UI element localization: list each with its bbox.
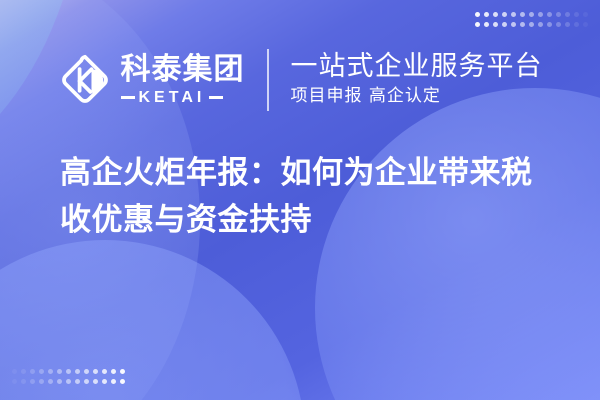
- decorative-dot: [511, 12, 516, 17]
- decorative-dot: [529, 12, 534, 17]
- dot-row: [12, 379, 125, 384]
- tagline-block: 一站式企业服务平台 项目申报 高企认定: [291, 52, 543, 109]
- dot-grid-top-right: [475, 12, 588, 27]
- decorative-dot: [39, 379, 44, 384]
- decorative-dot: [547, 12, 552, 17]
- decorative-dot: [556, 12, 561, 17]
- decorative-dot: [48, 369, 53, 374]
- decorative-dot: [484, 22, 489, 27]
- decorative-dot: [66, 379, 71, 384]
- decorative-dot: [84, 369, 89, 374]
- decorative-dot: [475, 12, 480, 17]
- decorative-dot: [502, 22, 507, 27]
- company-logo: 科泰集团 KETAI: [58, 53, 245, 107]
- decorative-dot: [120, 379, 125, 384]
- decorative-dot: [484, 12, 489, 17]
- decorative-dot: [574, 12, 579, 17]
- dot-row: [475, 22, 588, 27]
- decorative-dot: [57, 369, 62, 374]
- decorative-dot: [84, 379, 89, 384]
- decorative-dot: [21, 379, 26, 384]
- decorative-dot: [57, 379, 62, 384]
- decorative-dot: [556, 22, 561, 27]
- decorative-dot: [565, 22, 570, 27]
- promo-banner: 科泰集团 KETAI 一站式企业服务平台 项目申报 高企认定 高企火炬年报：如何…: [0, 0, 600, 400]
- decorative-dot: [75, 379, 80, 384]
- decorative-dot: [102, 369, 107, 374]
- decorative-dot: [538, 12, 543, 17]
- decorative-dot: [12, 379, 17, 384]
- decorative-dot: [120, 369, 125, 374]
- decorative-dot: [574, 22, 579, 27]
- dot-row: [12, 369, 125, 374]
- decorative-dot: [520, 12, 525, 17]
- dot-grid-bottom-left: [12, 369, 125, 384]
- tagline-secondary: 项目申报 高企认定: [291, 85, 543, 108]
- banner-headline: 高企火炬年报：如何为企业带来税收优惠与资金扶持: [60, 150, 560, 244]
- decorative-dot: [538, 22, 543, 27]
- logo-rule-left: [121, 96, 135, 99]
- decorative-dot: [529, 22, 534, 27]
- decorative-dot: [565, 12, 570, 17]
- decorative-dot: [502, 12, 507, 17]
- decorative-dot: [75, 369, 80, 374]
- decorative-dot: [493, 12, 498, 17]
- decorative-dot: [48, 379, 53, 384]
- decorative-dot: [30, 369, 35, 374]
- logo-company-name-en: KETAI: [139, 90, 206, 106]
- decorative-dot: [102, 379, 107, 384]
- decorative-dot: [111, 369, 116, 374]
- decorative-dot: [583, 22, 588, 27]
- decorative-dot: [520, 22, 525, 27]
- decorative-dot: [93, 379, 98, 384]
- logo-company-name-cn: 科泰集团: [121, 55, 245, 85]
- decorative-dot: [547, 22, 552, 27]
- decorative-dot: [66, 369, 71, 374]
- decorative-dot: [21, 369, 26, 374]
- decorative-dot: [583, 12, 588, 17]
- decorative-dot: [30, 379, 35, 384]
- ketai-kd-monogram-icon: [58, 53, 112, 107]
- logo-english-row: KETAI: [121, 90, 245, 106]
- logo-rule-right: [209, 96, 223, 99]
- header-vertical-divider: [267, 49, 269, 111]
- banner-header: 科泰集团 KETAI 一站式企业服务平台 项目申报 高企认定: [0, 40, 600, 120]
- logo-wordmark: 科泰集团 KETAI: [121, 55, 245, 106]
- decorative-dot: [511, 22, 516, 27]
- decorative-dot: [493, 22, 498, 27]
- dot-row: [475, 12, 588, 17]
- decorative-dot: [12, 369, 17, 374]
- decorative-dot: [39, 369, 44, 374]
- tagline-primary: 一站式企业服务平台: [291, 52, 543, 83]
- decorative-dot: [475, 22, 480, 27]
- decorative-dot: [93, 369, 98, 374]
- decorative-dot: [111, 379, 116, 384]
